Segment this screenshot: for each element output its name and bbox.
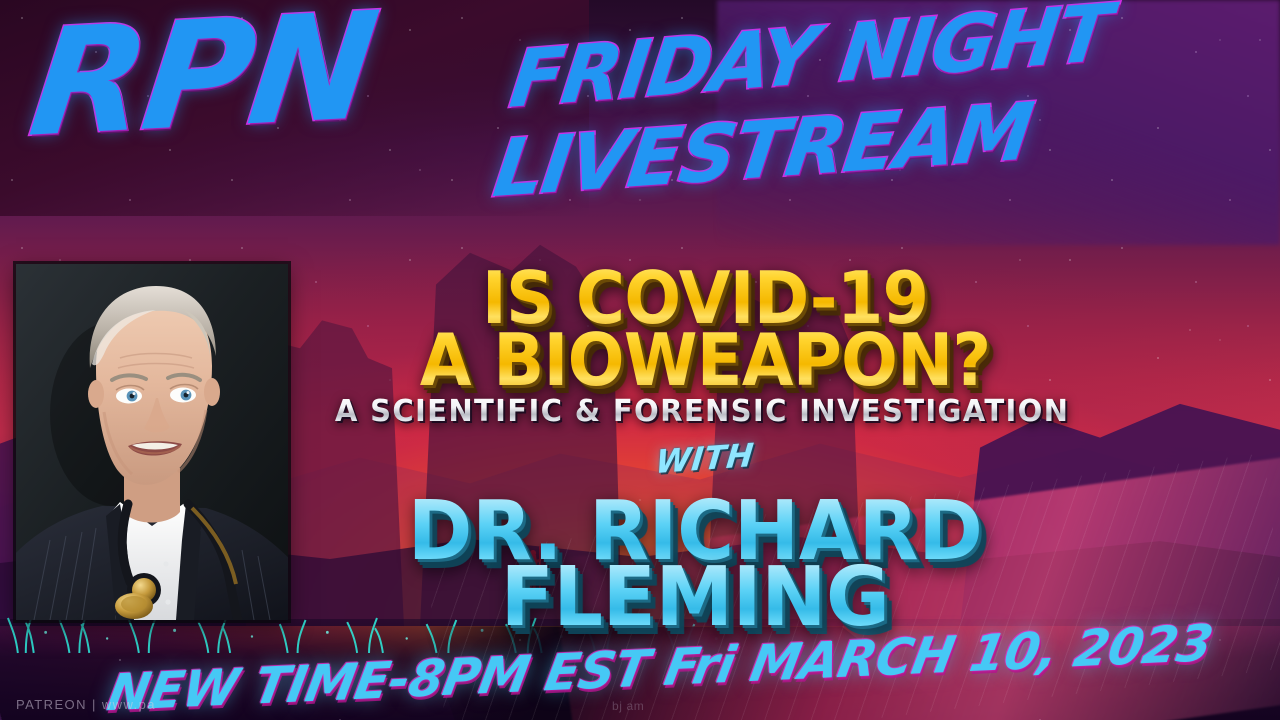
livestream-promo-poster: Portrait of Dr. Richard Fleming in dark …: [0, 0, 1280, 720]
episode-title-line2: A BIOWEAPON?: [45, 318, 1235, 402]
patreon-watermark[interactable]: PATREON | www.pa: [16, 697, 156, 712]
center-watermark: bj am: [612, 699, 644, 713]
rpn-logo: RPN: [25, 1, 381, 149]
